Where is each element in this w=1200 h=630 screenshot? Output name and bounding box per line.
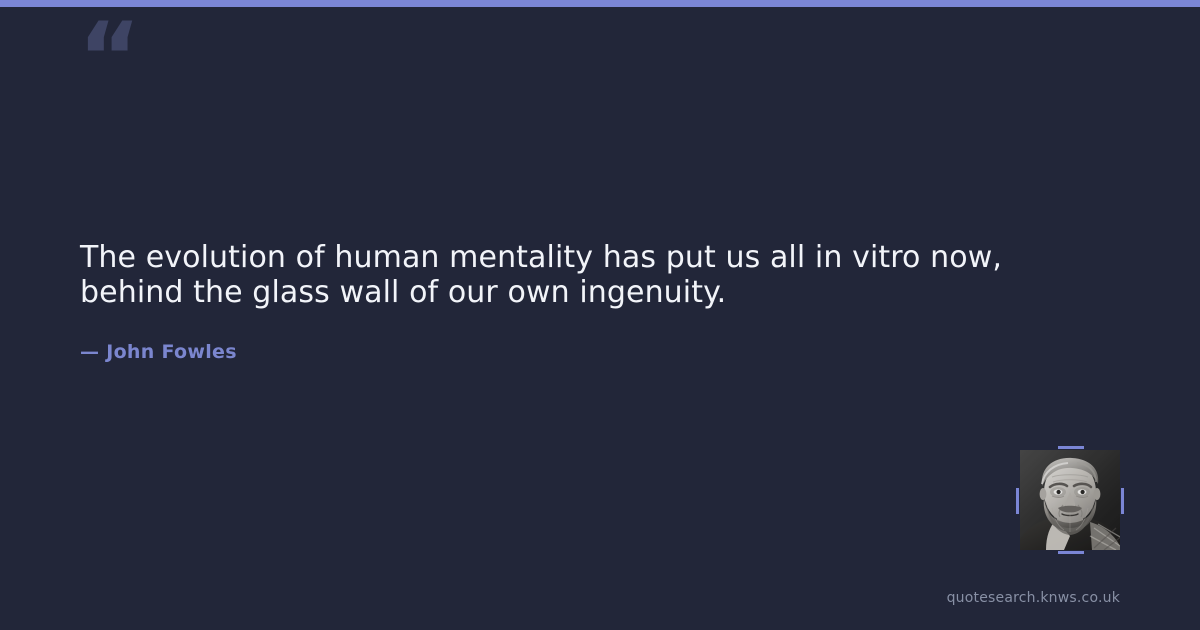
quote-attribution: — John Fowles: [80, 341, 237, 363]
portrait-frame-dash-top: [1058, 446, 1084, 449]
author-portrait-photo: [1020, 450, 1120, 550]
portrait-frame-dash-right: [1121, 488, 1124, 514]
quote-card: “ The evolution of human mentality has p…: [0, 0, 1200, 630]
author-portrait: [1020, 450, 1120, 550]
portrait-frame-dash-left: [1016, 488, 1019, 514]
quote-text: The evolution of human mentality has put…: [80, 240, 1030, 310]
portrait-frame-dash-bottom: [1058, 551, 1084, 554]
source-url: quotesearch.knws.co.uk: [947, 590, 1120, 606]
quote-block: The evolution of human mentality has put…: [80, 240, 1030, 310]
opening-quote-mark-icon: “: [78, 10, 139, 106]
top-accent-bar: [0, 0, 1200, 7]
